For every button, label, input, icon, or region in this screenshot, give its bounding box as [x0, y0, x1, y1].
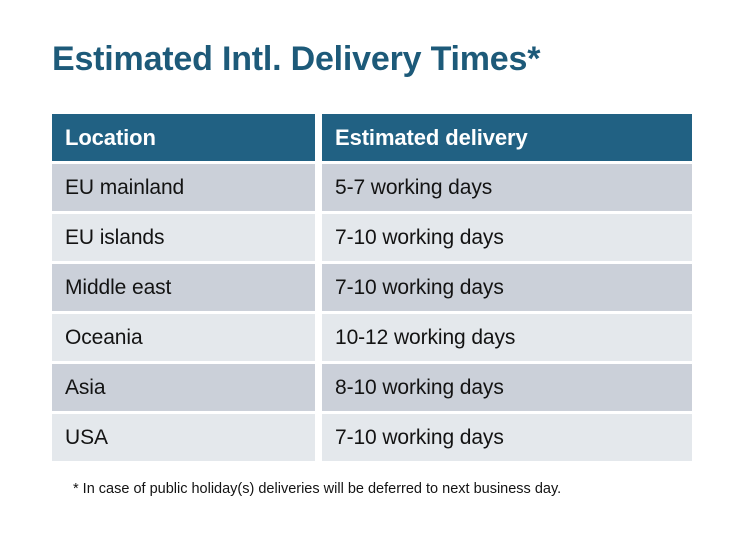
cell-location: Oceania [52, 314, 315, 361]
column-divider [315, 314, 322, 361]
table-row: EU islands 7-10 working days [52, 214, 692, 261]
cell-location: EU mainland [52, 164, 315, 211]
cell-estimated-delivery: 7-10 working days [322, 214, 692, 261]
column-divider [315, 114, 322, 161]
table-row: Middle east 7-10 working days [52, 264, 692, 311]
column-divider [315, 414, 322, 461]
cell-location: Middle east [52, 264, 315, 311]
cell-location: EU islands [52, 214, 315, 261]
delivery-times-table: Location Estimated delivery EU mainland … [52, 114, 692, 461]
table-row: USA 7-10 working days [52, 414, 692, 461]
column-header-estimated-delivery: Estimated delivery [322, 114, 692, 161]
column-divider [315, 264, 322, 311]
page-title: Estimated Intl. Delivery Times* [52, 38, 540, 80]
table-row: EU mainland 5-7 working days [52, 164, 692, 211]
delivery-times-page: Estimated Intl. Delivery Times* Location… [0, 0, 745, 536]
table-header-row: Location Estimated delivery [52, 114, 692, 161]
cell-estimated-delivery: 8-10 working days [322, 364, 692, 411]
cell-location: Asia [52, 364, 315, 411]
footnote: * In case of public holiday(s) deliverie… [73, 479, 561, 499]
column-header-location: Location [52, 114, 315, 161]
table-row: Asia 8-10 working days [52, 364, 692, 411]
column-divider [315, 164, 322, 211]
cell-estimated-delivery: 10-12 working days [322, 314, 692, 361]
cell-estimated-delivery: 5-7 working days [322, 164, 692, 211]
cell-location: USA [52, 414, 315, 461]
table-row: Oceania 10-12 working days [52, 314, 692, 361]
cell-estimated-delivery: 7-10 working days [322, 264, 692, 311]
column-divider [315, 364, 322, 411]
cell-estimated-delivery: 7-10 working days [322, 414, 692, 461]
column-divider [315, 214, 322, 261]
